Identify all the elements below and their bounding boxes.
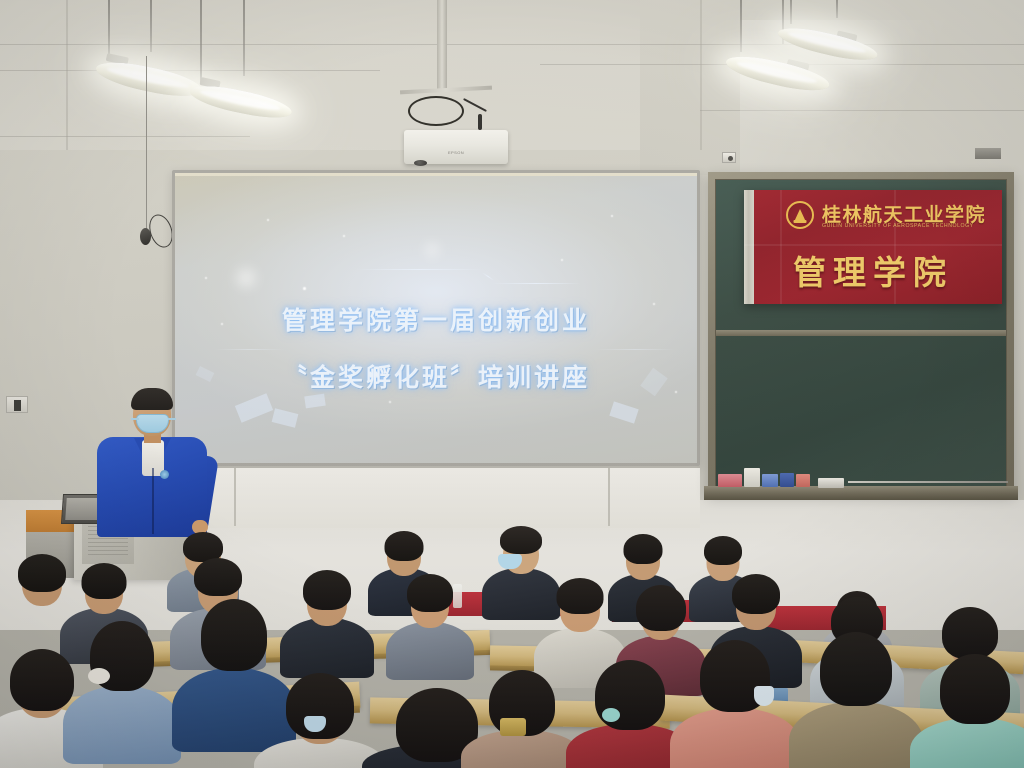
audience-person <box>72 620 172 752</box>
audience-person <box>392 572 468 670</box>
audience-person <box>680 640 790 768</box>
chalk-ledge <box>704 486 1018 500</box>
projector-brand-label: EPSON <box>404 150 508 155</box>
wall-panel-below-screen <box>176 466 700 528</box>
light-switch[interactable] <box>6 396 28 413</box>
audience-person <box>920 654 1024 768</box>
presenter-badge-icon <box>160 470 169 479</box>
audience-person <box>286 568 368 668</box>
panel-divider <box>608 468 610 526</box>
presenter-face-mask <box>136 414 169 433</box>
wall-seam <box>700 0 702 150</box>
pointer-rod <box>848 481 1008 483</box>
hair-clip <box>500 718 526 736</box>
chalk-box <box>780 473 794 487</box>
chalk-box <box>744 468 760 487</box>
audience-person <box>264 672 376 768</box>
hair-tie <box>602 708 620 722</box>
wall-sensor-icon <box>722 152 736 163</box>
department-banner: 桂林航天工业学院 GUILIN UNIVERSITY OF AEROSPACE … <box>744 190 1002 304</box>
audience-person <box>576 660 684 768</box>
slide-title-line-2: 〝金奖孵化班〞培训讲座 <box>175 358 697 394</box>
wall-seam <box>66 0 68 150</box>
lecture-hall-photo: EPSON <box>0 0 1024 768</box>
hair-tie <box>88 668 110 684</box>
slide-title-line-1: 管理学院第一届创新创业 <box>175 301 697 337</box>
face-mask <box>754 686 774 706</box>
audience-person <box>470 670 574 768</box>
banner-university-name-en: GUILIN UNIVERSITY OF AEROSPACE TECHNOLOG… <box>822 223 1002 229</box>
chalk-box <box>762 474 778 487</box>
blackboard-divider <box>716 330 1006 336</box>
university-logo-icon <box>786 201 814 229</box>
audience-person <box>800 632 912 768</box>
banner-department-name: 管理学院 <box>744 246 1002 294</box>
chalk-box <box>796 474 810 487</box>
board-eraser <box>818 478 844 488</box>
wall-mounted-box <box>975 148 1001 159</box>
panel-divider <box>234 468 236 526</box>
chalk-box <box>718 474 742 487</box>
ceiling-seam <box>0 136 250 137</box>
ceiling-seam <box>0 70 380 71</box>
projection-screen: 管理学院第一届创新创业 〝金奖孵化班〞培训讲座 <box>172 170 700 466</box>
